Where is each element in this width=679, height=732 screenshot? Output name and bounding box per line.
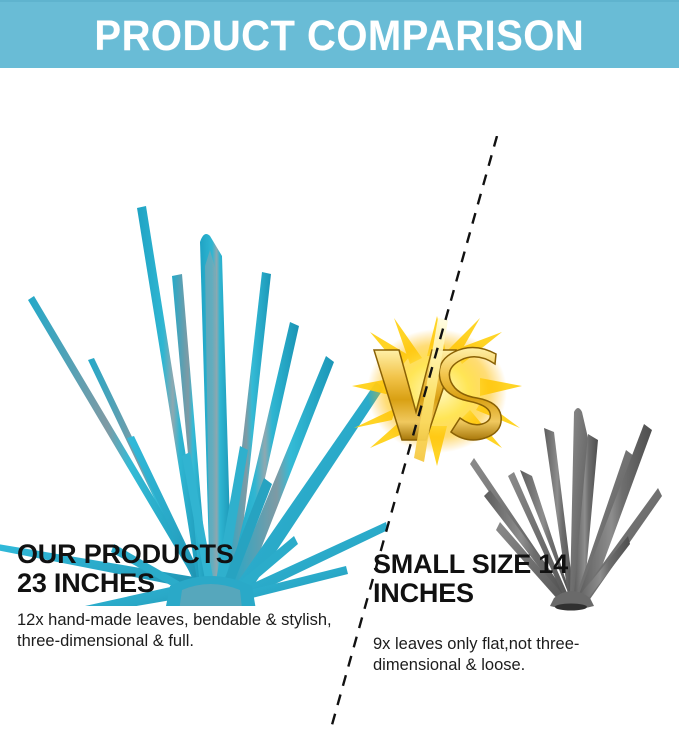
right-description-line2: dimensional & loose. [373,655,668,676]
vs-badge [352,316,522,466]
left-description-line1: 12x hand-made leaves, bendable & stylish… [17,610,357,631]
header-banner: PRODUCT COMPARISON [0,0,679,70]
left-headline-line2: 23 INCHES [17,569,357,598]
right-product-caption: SMALL SIZE 14 INCHES 9x leaves only flat… [373,550,668,676]
left-description: 12x hand-made leaves, bendable & stylish… [17,610,357,652]
left-description-line2: three-dimensional & full. [17,631,357,652]
page-title: PRODUCT COMPARISON [95,15,585,58]
left-product-caption: OUR PRODUCTS 23 INCHES 12x hand-made lea… [17,540,357,652]
blue-agave-product-image [0,146,394,606]
right-description-line1: 9x leaves only flat,not three- [373,634,668,655]
right-headline: SMALL SIZE 14 INCHES [373,550,668,608]
right-description: 9x leaves only flat,not three- dimension… [373,634,668,676]
left-headline-line1: OUR PRODUCTS [17,540,357,569]
